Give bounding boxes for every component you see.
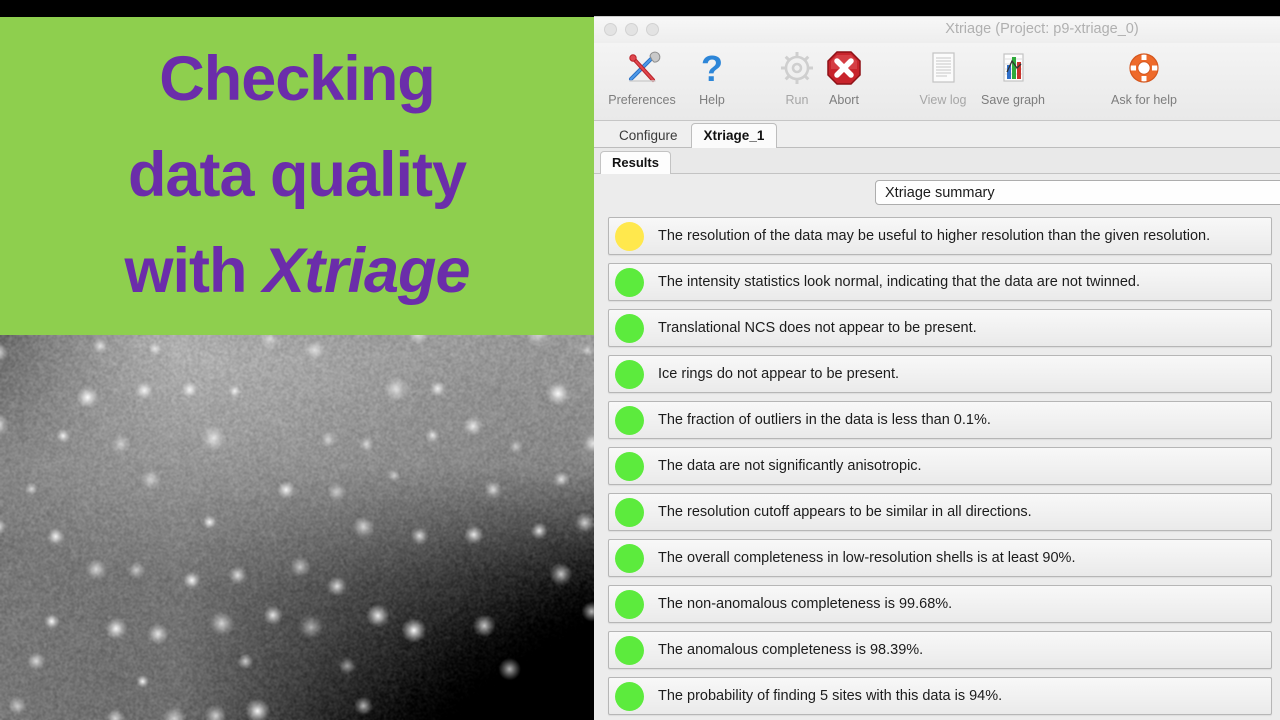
result-text: Translational NCS does not appear to be … (658, 320, 977, 336)
stop-x-icon (798, 45, 890, 91)
screenshot-root: Checking data quality with Xtriage Xtria… (0, 0, 1280, 720)
tab-configure[interactable]: Configure (606, 123, 691, 149)
window-title: Xtriage (Project: p9-xtriage_0) (594, 21, 1280, 37)
toolbar-button-abort[interactable]: Abort (798, 45, 890, 107)
result-text: The data are not significantly anisotrop… (658, 458, 922, 474)
status-ok-icon (615, 498, 644, 527)
status-warning-icon (615, 222, 644, 251)
status-ok-icon (615, 268, 644, 297)
tab-results[interactable]: Results (600, 151, 671, 174)
inner-tab-bar: Results (594, 148, 1280, 174)
bar-chart-icon (967, 45, 1059, 91)
result-text: The non-anomalous completeness is 99.68%… (658, 596, 952, 612)
result-row[interactable]: The fraction of outliers in the data is … (608, 401, 1272, 439)
slide-title-card: Checking data quality with Xtriage (0, 17, 594, 335)
question-mark-icon: ? (666, 45, 758, 91)
toolbar-button-save-graph[interactable]: Save graph (967, 45, 1059, 107)
result-row[interactable]: Translational NCS does not appear to be … (608, 309, 1272, 347)
result-text: The anomalous completeness is 98.39%. (658, 642, 923, 658)
result-row[interactable]: The intensity statistics look normal, in… (608, 263, 1272, 301)
status-ok-icon (615, 452, 644, 481)
result-text: The resolution of the data may be useful… (658, 228, 1210, 244)
toolbar-button-help[interactable]: ? Help (666, 45, 758, 107)
result-row[interactable]: The non-anomalous completeness is 99.68%… (608, 585, 1272, 623)
status-ok-icon (615, 544, 644, 573)
slide-title-line-3-plain: with (124, 236, 262, 306)
result-text: The overall completeness in low-resoluti… (658, 550, 1075, 566)
toolbar-label-help: Help (666, 93, 758, 107)
toolbar-button-ask-for-help[interactable]: Ask for help (1098, 45, 1190, 107)
xtriage-summary-select[interactable]: Xtriage summary (875, 180, 1280, 205)
results-list: The resolution of the data may be useful… (594, 211, 1280, 720)
xtriage-app-window: Xtriage (Project: p9-xtriage_0) (594, 16, 1280, 720)
slide-title-line-1: Checking (159, 32, 435, 128)
result-row[interactable]: The anomalous completeness is 98.39%. (608, 631, 1272, 669)
result-text: The intensity statistics look normal, in… (658, 274, 1140, 290)
tab-xtriage-1[interactable]: Xtriage_1 (691, 123, 778, 149)
slide-title-line-3-italic: Xtriage (263, 236, 470, 306)
toolbar-label-abort: Abort (798, 93, 890, 107)
window-titlebar: Xtriage (Project: p9-xtriage_0) (594, 17, 1280, 43)
summary-selector-row: Xtriage summary (594, 174, 1280, 211)
status-ok-icon (615, 636, 644, 665)
diffraction-pattern-image (0, 335, 594, 720)
result-text: Ice rings do not appear to be present. (658, 366, 899, 382)
result-row[interactable]: Ice rings do not appear to be present. (608, 355, 1272, 393)
slide-title-line-2: data quality (128, 128, 466, 224)
status-ok-icon (615, 314, 644, 343)
diffraction-canvas (0, 335, 594, 720)
status-ok-icon (615, 406, 644, 435)
status-ok-icon (615, 682, 644, 711)
toolbar-label-ask-for-help: Ask for help (1098, 93, 1190, 107)
result-row[interactable]: The data are not significantly anisotrop… (608, 447, 1272, 485)
xtriage-summary-select-label: Xtriage summary (885, 185, 995, 201)
result-text: The probability of finding 5 sites with … (658, 688, 1002, 704)
result-text: The resolution cutoff appears to be simi… (658, 504, 1032, 520)
main-toolbar: Preferences ? Help (594, 43, 1280, 121)
status-ok-icon (615, 360, 644, 389)
outer-tab-bar: Configure Xtriage_1 (594, 121, 1280, 148)
result-row[interactable]: The resolution of the data may be useful… (608, 217, 1272, 255)
life-ring-icon (1098, 45, 1190, 91)
slide-title-line-3: with Xtriage (124, 224, 469, 320)
status-ok-icon (615, 590, 644, 619)
result-text: The fraction of outliers in the data is … (658, 412, 991, 428)
result-row[interactable]: The overall completeness in low-resoluti… (608, 539, 1272, 577)
toolbar-label-save-graph: Save graph (967, 93, 1059, 107)
result-row[interactable]: The resolution cutoff appears to be simi… (608, 493, 1272, 531)
result-row[interactable]: The probability of finding 5 sites with … (608, 677, 1272, 715)
presentation-slide-panel: Checking data quality with Xtriage (0, 0, 594, 720)
svg-text:?: ? (701, 48, 723, 88)
